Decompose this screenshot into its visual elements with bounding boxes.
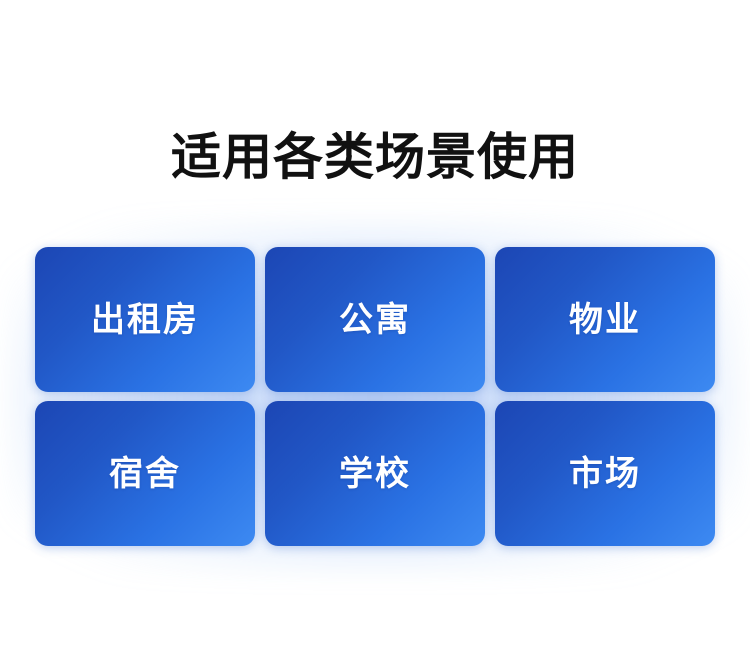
scenario-card-label: 市场 <box>569 454 641 494</box>
scenario-card-grid: 出租房 公寓 物业 宿舍 学校 市场 <box>35 247 715 546</box>
page-root: 适用各类场景使用 出租房 公寓 物业 宿舍 学校 市场 <box>0 0 750 650</box>
scenario-card-rental-house[interactable]: 出租房 <box>35 247 255 392</box>
scenario-card-label: 宿舍 <box>109 454 181 494</box>
scenario-card-label: 公寓 <box>339 300 411 340</box>
scenario-card-property[interactable]: 物业 <box>495 247 715 392</box>
scenario-card-market[interactable]: 市场 <box>495 401 715 546</box>
scenario-grid-glow: 出租房 公寓 物业 宿舍 学校 市场 <box>35 247 715 546</box>
scenario-card-apartment[interactable]: 公寓 <box>265 247 485 392</box>
scenario-card-dormitory[interactable]: 宿舍 <box>35 401 255 546</box>
scenario-card-label: 出租房 <box>91 300 199 340</box>
page-title: 适用各类场景使用 <box>171 126 579 188</box>
scenario-card-label: 学校 <box>339 454 411 494</box>
scenario-card-school[interactable]: 学校 <box>265 401 485 546</box>
scenario-card-label: 物业 <box>569 300 641 340</box>
page-title-container: 适用各类场景使用 <box>0 92 750 221</box>
